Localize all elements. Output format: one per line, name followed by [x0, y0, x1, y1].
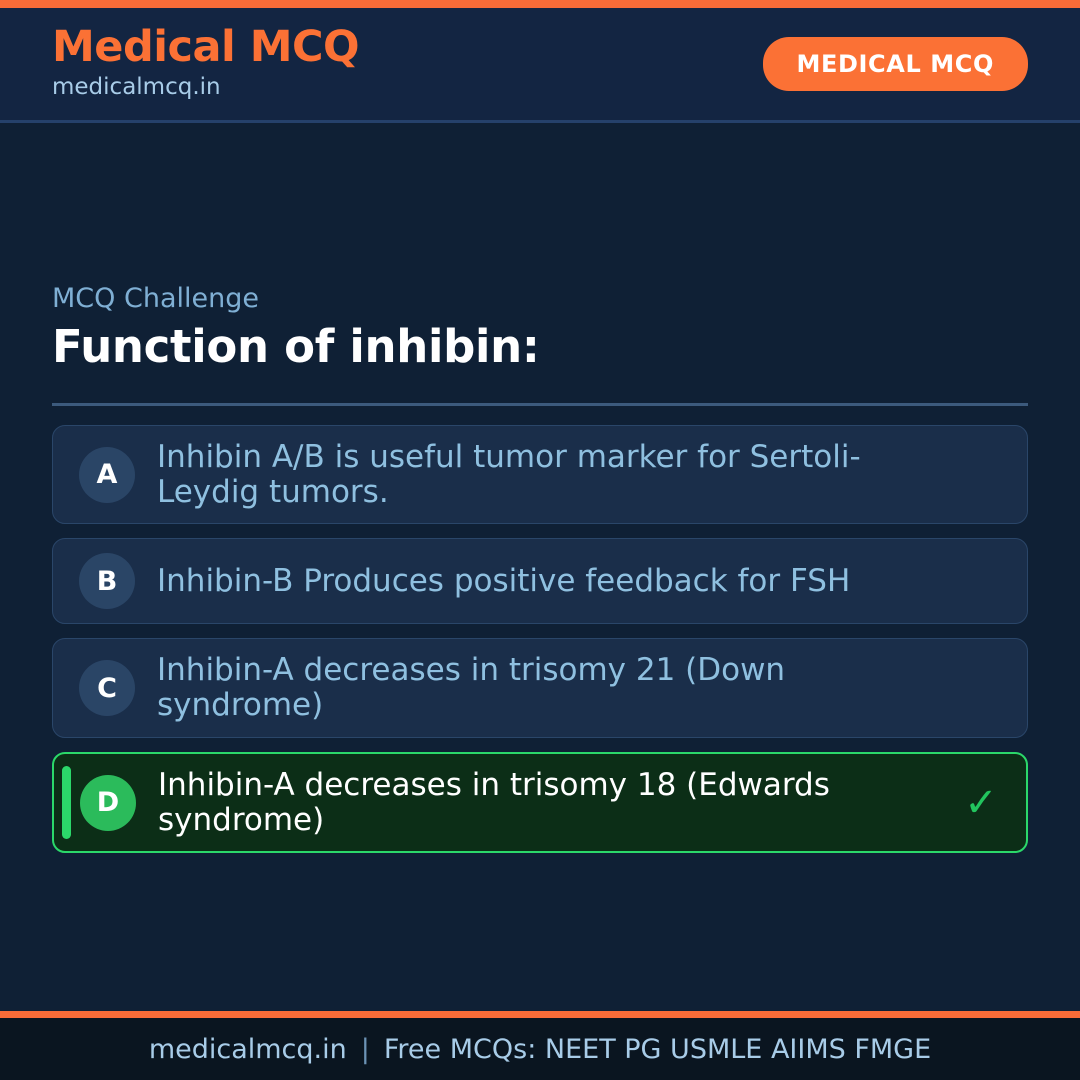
page-header: Medical MCQ medicalmcq.in MEDICAL MCQ: [0, 8, 1080, 123]
footer-accent-stripe: [0, 1011, 1080, 1018]
option-text: Inhibin-A decreases in trisomy 18 (Edwar…: [158, 768, 958, 837]
options-list: A Inhibin A/B is useful tumor marker for…: [52, 425, 1028, 853]
question-divider: [52, 403, 1028, 406]
top-accent-stripe: [0, 0, 1080, 8]
brand-title: Medical MCQ: [52, 25, 359, 70]
option-d[interactable]: D Inhibin-A decreases in trisomy 18 (Edw…: [52, 752, 1028, 853]
option-text: Inhibin-A decreases in trisomy 21 (Down …: [157, 653, 959, 722]
check-icon: ✓: [958, 783, 1004, 823]
option-letter-badge: C: [79, 660, 135, 716]
option-b[interactable]: B Inhibin-B Produces positive feedback f…: [52, 538, 1028, 624]
main-content: MCQ Challenge Function of inhibin: A Inh…: [0, 126, 1080, 1010]
footer-exams: Free MCQs: NEET PG USMLE AIIMS FMGE: [384, 1034, 931, 1065]
option-text: Inhibin A/B is useful tumor marker for S…: [157, 440, 959, 509]
correct-accent-bar: [62, 766, 71, 839]
header-badge: MEDICAL MCQ: [763, 37, 1028, 91]
question-title: Function of inhibin:: [52, 321, 1028, 373]
option-letter-badge: A: [79, 447, 135, 503]
option-text: Inhibin-B Produces positive feedback for…: [157, 564, 959, 599]
footer-site: medicalmcq.in: [149, 1034, 347, 1065]
option-letter-badge: D: [80, 775, 136, 831]
brand-subtitle: medicalmcq.in: [52, 73, 359, 103]
footer-separator: |: [361, 1034, 370, 1065]
mcq-kicker: MCQ Challenge: [52, 283, 1028, 315]
option-letter-badge: B: [79, 553, 135, 609]
brand-block: Medical MCQ medicalmcq.in: [52, 25, 359, 103]
page-footer: medicalmcq.in | Free MCQs: NEET PG USMLE…: [0, 1018, 1080, 1080]
option-c[interactable]: C Inhibin-A decreases in trisomy 21 (Dow…: [52, 638, 1028, 737]
option-a[interactable]: A Inhibin A/B is useful tumor marker for…: [52, 425, 1028, 524]
